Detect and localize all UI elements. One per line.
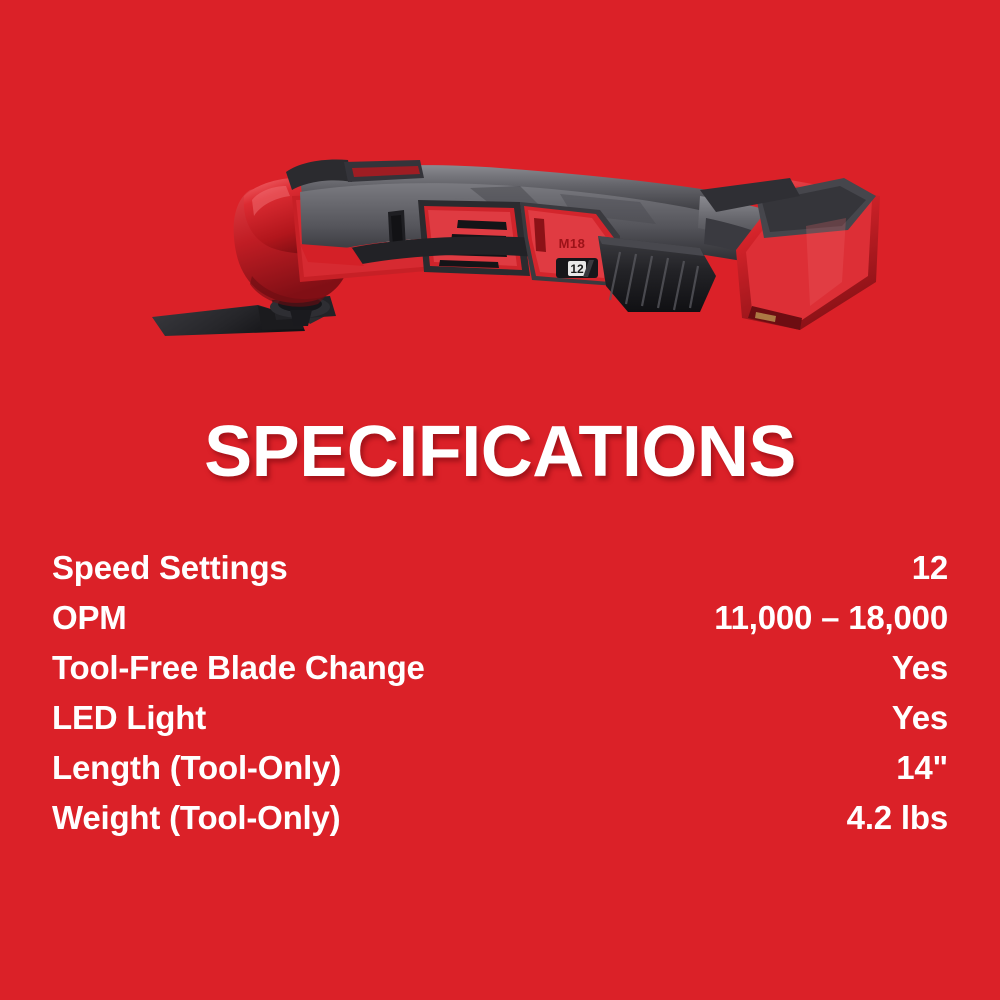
m18-badge: M18 <box>559 236 586 251</box>
spec-label: Weight (Tool-Only) <box>52 793 340 843</box>
table-row: Tool-Free Blade Change Yes <box>52 643 948 693</box>
table-row: Length (Tool-Only) 14" <box>52 743 948 793</box>
table-row: Speed Settings 12 <box>52 543 948 593</box>
svg-text:12: 12 <box>570 262 584 276</box>
table-row: Weight (Tool-Only) 4.2 lbs <box>52 793 948 843</box>
spec-label: Speed Settings <box>52 543 288 593</box>
spec-label: OPM <box>52 593 127 643</box>
spec-value: 11,000 – 18,000 <box>714 593 948 643</box>
product-image: Milwaukee <box>0 0 1000 400</box>
svg-text:M18: M18 <box>559 236 586 251</box>
spec-label: Tool-Free Blade Change <box>52 643 425 693</box>
page-title: SPECIFICATIONS <box>0 416 1000 488</box>
spec-value: Yes <box>892 643 948 693</box>
spec-value: 14" <box>896 743 948 793</box>
spec-label: Length (Tool-Only) <box>52 743 341 793</box>
spec-value: 4.2 lbs <box>847 793 948 843</box>
speed-dial: 12 <box>556 258 598 278</box>
specifications-table: Speed Settings 12 OPM 11,000 – 18,000 To… <box>52 543 948 843</box>
table-row: LED Light Yes <box>52 693 948 743</box>
spec-value: 12 <box>912 543 948 593</box>
specification-card: Milwaukee <box>0 0 1000 1000</box>
spec-value: Yes <box>892 693 948 743</box>
spec-label: LED Light <box>52 693 206 743</box>
table-row: OPM 11,000 – 18,000 <box>52 593 948 643</box>
